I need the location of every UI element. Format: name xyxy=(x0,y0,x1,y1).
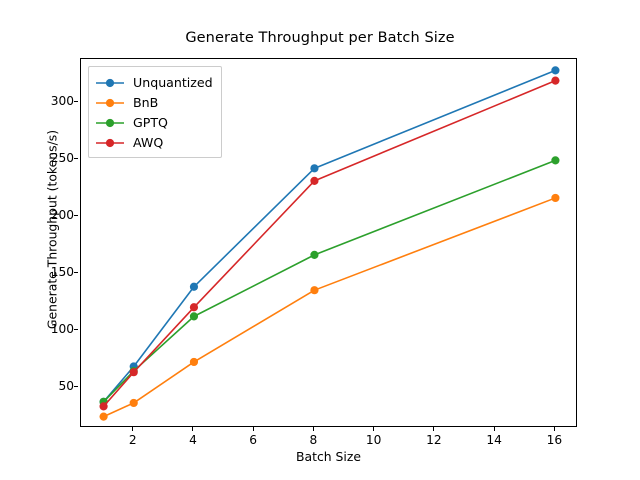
legend-marker-icon xyxy=(95,115,125,129)
data-point xyxy=(99,402,107,410)
legend-item-bnb[interactable]: BnB xyxy=(95,92,213,112)
chart-legend: UnquantizedBnBGPTQAWQ xyxy=(88,66,222,158)
data-point xyxy=(310,251,318,259)
x-tick-label: 2 xyxy=(129,433,137,447)
y-tick-mark xyxy=(74,272,78,273)
data-point xyxy=(190,358,198,366)
legend-marker-icon xyxy=(95,75,125,89)
data-point xyxy=(551,194,559,202)
y-tick-label: 150 xyxy=(51,265,74,279)
data-point xyxy=(190,283,198,291)
legend-label: BnB xyxy=(133,95,158,110)
data-point xyxy=(190,303,198,311)
y-tick-label: 50 xyxy=(58,379,74,393)
y-tick-label: 100 xyxy=(51,322,74,336)
y-tick-mark xyxy=(74,158,78,159)
y-tick-label: 300 xyxy=(51,94,74,108)
legend-item-gptq[interactable]: GPTQ xyxy=(95,112,213,132)
series-gptq xyxy=(99,156,559,406)
data-point xyxy=(551,66,559,74)
y-tick-mark xyxy=(74,386,78,387)
data-point xyxy=(190,312,198,320)
y-axis-tick-labels: 50100150200250300 xyxy=(30,58,74,427)
y-tick-label: 200 xyxy=(51,208,74,222)
chart-figure: Generate Throughput per Batch Size Gener… xyxy=(0,0,640,480)
x-axis-tick-labels: 246810121416 xyxy=(80,427,577,457)
y-tick-mark xyxy=(74,101,78,102)
data-point xyxy=(310,286,318,294)
legend-item-awq[interactable]: AWQ xyxy=(95,132,213,152)
data-point xyxy=(130,399,138,407)
data-point xyxy=(310,177,318,185)
series-bnb xyxy=(99,194,559,421)
x-tick-label: 8 xyxy=(310,433,318,447)
x-tick-label: 4 xyxy=(189,433,197,447)
legend-label: GPTQ xyxy=(133,115,168,130)
series-line xyxy=(104,198,556,417)
legend-label: Unquantized xyxy=(133,75,213,90)
series-line xyxy=(104,160,556,401)
data-point xyxy=(130,368,138,376)
x-tick-label: 10 xyxy=(366,433,382,447)
data-point xyxy=(99,413,107,421)
y-tick-mark xyxy=(74,329,78,330)
y-tick-label: 250 xyxy=(51,151,74,165)
y-tick-mark xyxy=(74,215,78,216)
x-tick-label: 14 xyxy=(486,433,502,447)
data-point xyxy=(551,77,559,85)
x-tick-label: 6 xyxy=(249,433,257,447)
legend-marker-icon xyxy=(95,95,125,109)
data-point xyxy=(310,164,318,172)
legend-item-unquantized[interactable]: Unquantized xyxy=(95,72,213,92)
legend-label: AWQ xyxy=(133,135,163,150)
legend-marker-icon xyxy=(95,135,125,149)
chart-title: Generate Throughput per Batch Size xyxy=(0,30,640,46)
x-tick-label: 12 xyxy=(426,433,442,447)
x-tick-label: 16 xyxy=(547,433,563,447)
data-point xyxy=(551,156,559,164)
